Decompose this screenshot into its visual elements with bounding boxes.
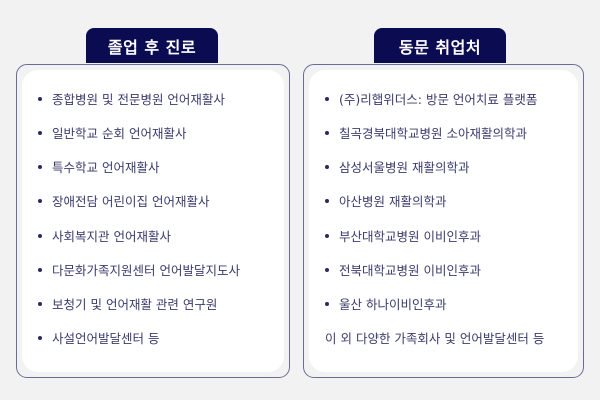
list-item-label: 사회복지관 언어재활사 xyxy=(52,229,171,244)
list-item: 일반학교 순회 언어재활사 xyxy=(22,126,284,142)
list-footnote: 이 외 다양한 가족회사 및 언어발달센터 등 xyxy=(309,331,578,347)
bullet-icon xyxy=(325,234,329,238)
bullet-icon xyxy=(38,336,42,340)
bullet-icon xyxy=(38,199,42,203)
bullet-icon xyxy=(325,165,329,169)
bullet-icon xyxy=(325,302,329,306)
list-item-label: (주)리햅위더스: 방문 언어치료 플랫폼 xyxy=(339,92,537,107)
list-item-label: 종합병원 및 전문병원 언어재활사 xyxy=(52,92,225,107)
alumni-employers-list: (주)리햅위더스: 방문 언어치료 플랫폼 칠곡경북대학교병원 소아재활의학과 … xyxy=(309,92,578,365)
bullet-icon xyxy=(325,97,329,101)
list-item-label: 장애전담 어린이집 언어재활사 xyxy=(52,194,209,209)
career-paths-list: 종합병원 및 전문병원 언어재활사 일반학교 순회 언어재활사 특수학교 언어재… xyxy=(22,92,284,365)
list-item-label: 보청기 및 언어재활 관련 연구원 xyxy=(52,297,217,312)
bullet-icon xyxy=(38,165,42,169)
list-item: 아산병원 재활의학과 xyxy=(309,194,578,210)
list-item: 다문화가족지원센터 언어발달지도사 xyxy=(22,263,284,279)
list-item-label: 사설언어발달센터 등 xyxy=(52,331,159,346)
list-item-label: 아산병원 재활의학과 xyxy=(339,194,446,209)
list-item-label: 부산대학교병원 이비인후과 xyxy=(339,229,481,244)
list-footnote-label: 이 외 다양한 가족회사 및 언어발달센터 등 xyxy=(325,331,544,346)
list-item-label: 다문화가족지원센터 언어발달지도사 xyxy=(52,263,240,278)
list-item: 특수학교 언어재활사 xyxy=(22,160,284,176)
bullet-icon xyxy=(38,97,42,101)
list-item: 보청기 및 언어재활 관련 연구원 xyxy=(22,297,284,313)
list-item-label: 울산 하나이비인후과 xyxy=(339,297,446,312)
list-item: 사설언어발달센터 등 xyxy=(22,331,284,347)
list-item: 칠곡경북대학교병원 소아재활의학과 xyxy=(309,126,578,142)
list-item: 울산 하나이비인후과 xyxy=(309,297,578,313)
list-item: 종합병원 및 전문병원 언어재활사 xyxy=(22,92,284,108)
panel-alumni-employers: (주)리햅위더스: 방문 언어치료 플랫폼 칠곡경북대학교병원 소아재활의학과 … xyxy=(303,64,584,378)
bullet-icon xyxy=(325,268,329,272)
list-item-label: 전북대학교병원 이비인후과 xyxy=(339,263,481,278)
list-item: 장애전담 어린이집 언어재활사 xyxy=(22,194,284,210)
list-item: 사회복지관 언어재활사 xyxy=(22,229,284,245)
bullet-icon xyxy=(325,199,329,203)
info-panels-board: 졸업 후 진로 종합병원 및 전문병원 언어재활사 일반학교 순회 언어재활사 … xyxy=(0,0,600,400)
list-item-label: 칠곡경북대학교병원 소아재활의학과 xyxy=(339,126,527,141)
list-item: (주)리햅위더스: 방문 언어치료 플랫폼 xyxy=(309,92,578,108)
panel-header-career-paths: 졸업 후 진로 xyxy=(86,28,218,63)
panel-career-paths-surface: 종합병원 및 전문병원 언어재활사 일반학교 순회 언어재활사 특수학교 언어재… xyxy=(22,70,284,372)
list-item-label: 일반학교 순회 언어재활사 xyxy=(52,126,186,141)
bullet-icon xyxy=(38,268,42,272)
panel-career-paths: 종합병원 및 전문병원 언어재활사 일반학교 순회 언어재활사 특수학교 언어재… xyxy=(16,64,290,378)
list-item: 전북대학교병원 이비인후과 xyxy=(309,263,578,279)
panel-header-alumni-employers: 동문 취업처 xyxy=(374,28,506,63)
list-item: 삼성서울병원 재활의학과 xyxy=(309,160,578,176)
bullet-icon xyxy=(38,131,42,135)
list-item-label: 삼성서울병원 재활의학과 xyxy=(339,160,469,175)
list-item-label: 특수학교 언어재활사 xyxy=(52,160,159,175)
bullet-icon xyxy=(38,234,42,238)
bullet-icon xyxy=(325,131,329,135)
list-item: 부산대학교병원 이비인후과 xyxy=(309,229,578,245)
panel-alumni-employers-surface: (주)리햅위더스: 방문 언어치료 플랫폼 칠곡경북대학교병원 소아재활의학과 … xyxy=(309,70,578,372)
bullet-icon xyxy=(38,302,42,306)
